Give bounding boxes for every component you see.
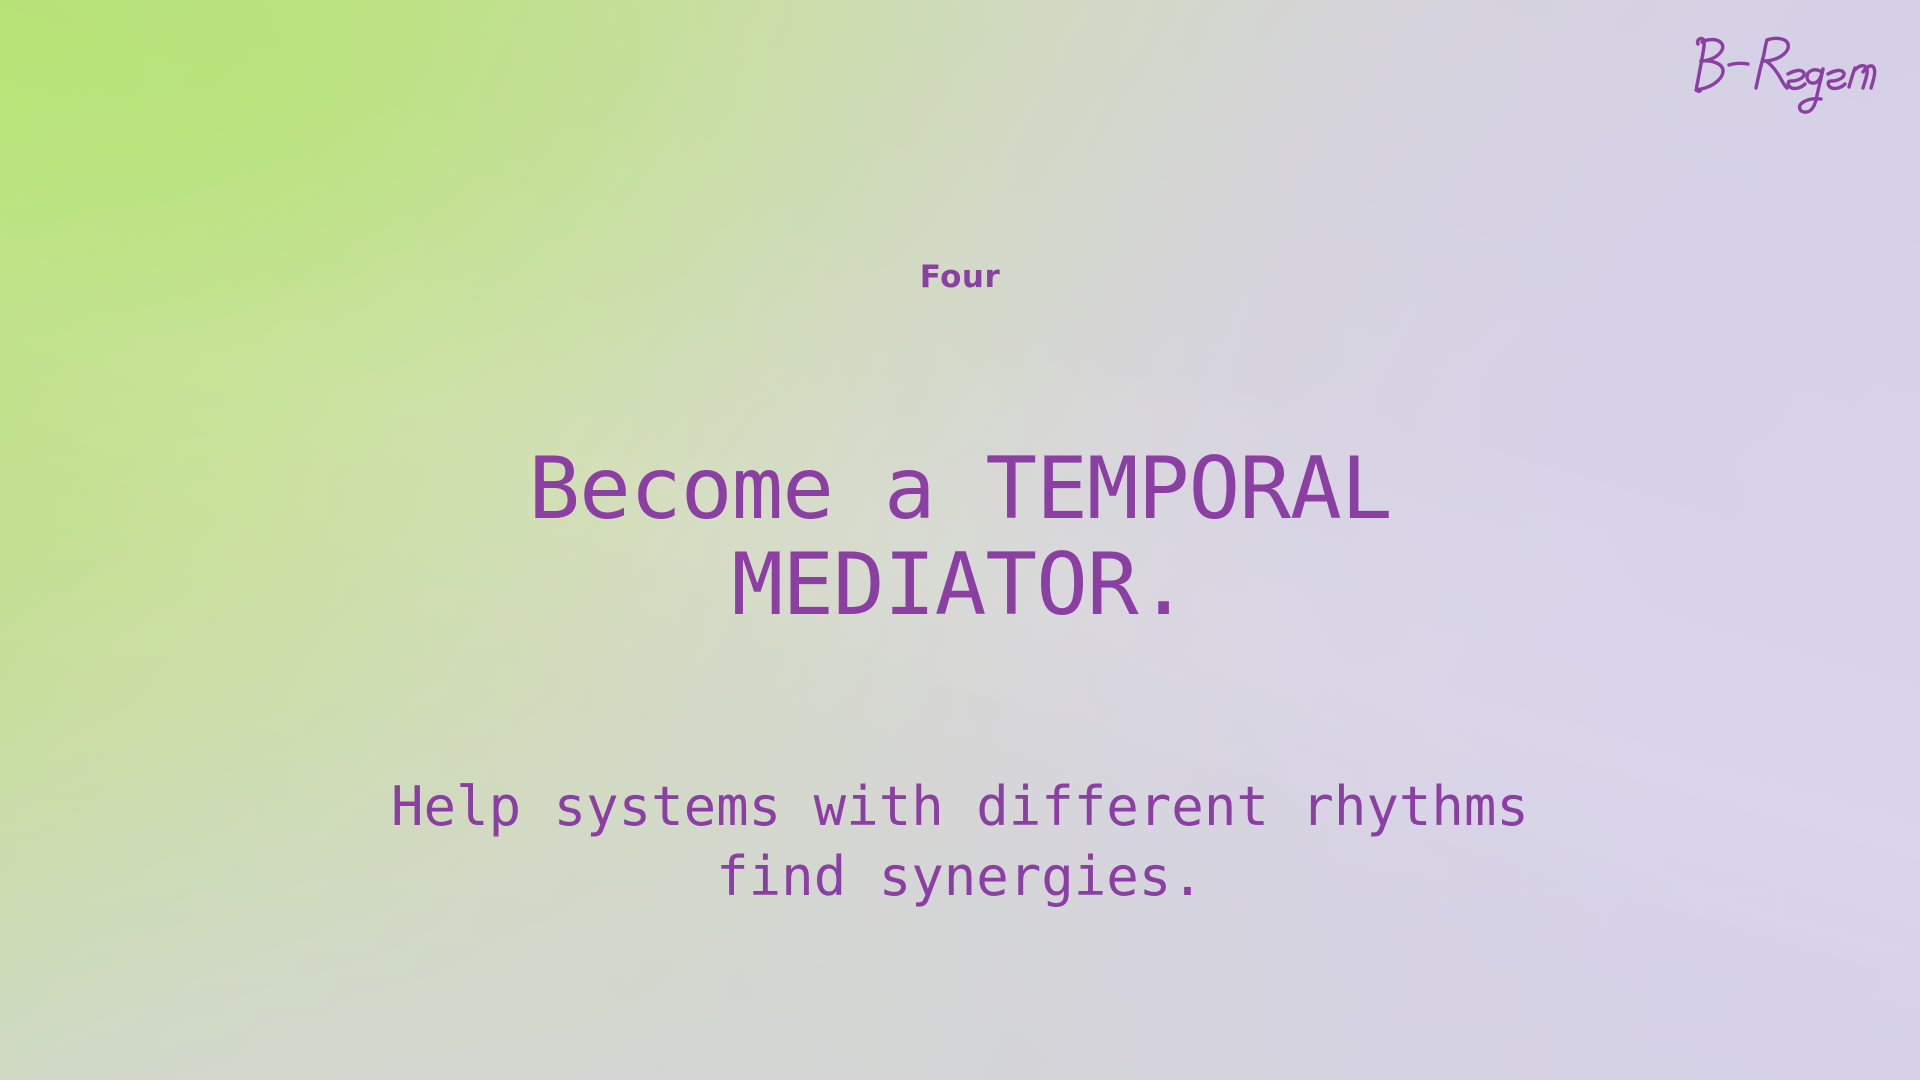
slide-number-label: Four	[0, 262, 1920, 293]
page-title: Become a TEMPORAL MEDIATOR.	[370, 441, 1550, 634]
slide-content: Four Become a TEMPORAL MEDIATOR. Help sy…	[0, 0, 1920, 1080]
presentation-slide: Four Become a TEMPORAL MEDIATOR. Help sy…	[0, 0, 1920, 1080]
slide-subtitle: Help systems with different rhythms find…	[260, 772, 1660, 912]
